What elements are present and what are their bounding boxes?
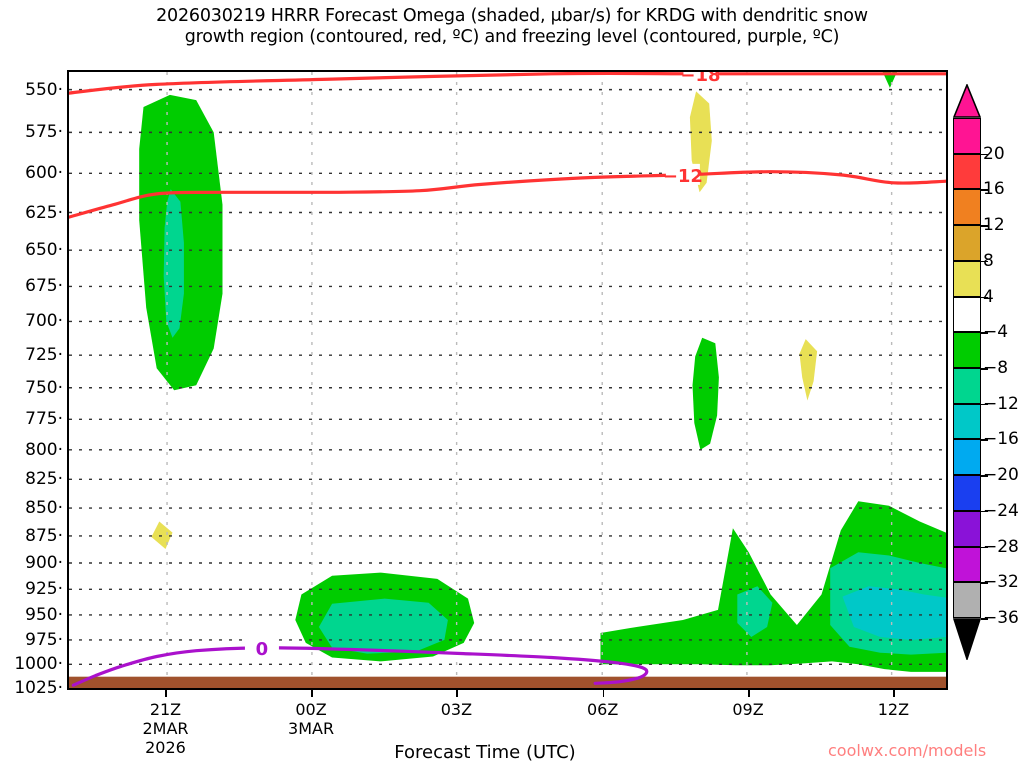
colorbar-tick-mark [981,582,988,584]
x-axis-tick-12Z: 12Z [878,700,909,719]
x-tick-year: 2026 [142,738,188,757]
shaded-region-mid-level-yellow-10z [800,339,818,400]
colorbar-tick-minus36: −36 [983,608,1019,628]
y-axis-tick-725: 725· [25,345,63,365]
contour-label-dendritic-upper: −18 [680,72,720,86]
x-axis-tick-21Z: 21Z2MAR2026 [142,700,188,757]
y-axis-tick-850: 850· [25,498,63,518]
terrain-band [69,677,946,688]
y-axis-tick-575: 575· [25,122,63,142]
contour-label-dendritic-lower: −12 [663,164,703,187]
x-tick-time: 21Z [150,700,181,719]
x-tick-time: 09Z [732,700,763,719]
y-axis-tick-1025: 1025· [14,678,63,698]
colorbar-tick-mark [981,547,988,549]
y-axis-tick-775: 775· [25,409,63,429]
plot-canvas: −18−120 [69,72,946,688]
y-axis-tick-950: 950· [25,605,63,625]
colorbar-segment-1 [953,154,981,190]
x-tick-time: 12Z [878,700,909,719]
x-tick-time: 03Z [441,700,472,719]
colorbar-tick-mark [981,297,988,299]
x-tick-time: 06Z [587,700,618,719]
y-axis-tick-800: 800· [25,440,63,460]
x-axis-tick-mark [893,690,895,697]
x-tick-date: 3MAR [288,719,334,738]
contour-label-text: 0 [256,639,269,660]
colorbar-tick-minus24: −24 [983,501,1019,521]
colorbar-segment-11 [953,511,981,547]
colorbar-segment-9 [953,439,981,475]
page-title: 2026030219 HRRR Forecast Omega (shaded, … [0,6,1024,48]
colorbar-segment-7 [953,368,981,404]
y-axis-tick-625: 625· [25,203,63,223]
x-axis-tick-mark [165,690,167,697]
y-axis-tick-825: 825· [25,469,63,489]
x-axis-tick-mark [748,690,750,697]
x-axis-title: Forecast Time (UTC) [250,742,720,763]
colorbar-segment-2 [953,189,981,225]
y-axis-tick-700: 700· [25,311,63,331]
title-line-1: 2026030219 HRRR Forecast Omega (shaded, … [0,6,1024,27]
colorbar-tick-mark [981,439,988,441]
y-axis-tick-600: 600· [25,163,63,183]
colorbar-tick-minus32: −32 [983,572,1019,592]
x-axis-tick-mark [603,690,605,697]
colorbar-tick-mark [981,154,988,156]
x-axis-tick-00Z: 00Z3MAR [288,700,334,738]
colorbar-segment-13 [953,582,981,618]
colorbar-segment-4 [953,261,981,297]
title-line-2: growth region (contoured, red, ºC) and f… [0,27,1024,48]
colorbar-under-arrow [953,618,981,660]
colorbar-tick-mark [981,225,988,227]
plot-area: −18−120 [67,70,948,690]
x-axis-tick-03Z: 03Z [441,700,472,719]
colorbar-segment-12 [953,547,981,583]
contour-label-text: −18 [680,72,720,86]
colorbar-segment-6 [953,332,981,368]
x-axis-tick-09Z: 09Z [732,700,763,719]
colorbar-tick-mark [981,511,988,513]
colorbar-tick-minus28: −28 [983,537,1019,557]
y-axis-tick-650: 650· [25,240,63,260]
colorbar-tick-minus16: −16 [983,429,1019,449]
colorbar-segment-0 [953,118,981,154]
y-axis-tick-750: 750· [25,378,63,398]
colorbar: 20161284−4−8−12−16−20−24−28−32−36 [953,72,1023,690]
colorbar-tick-mark [981,261,988,263]
watermark: coolwx.com/models [828,741,986,760]
x-tick-date: 2MAR [142,719,188,738]
chart-page: 2026030219 HRRR Forecast Omega (shaded, … [0,0,1024,768]
colorbar-segment-3 [953,225,981,261]
shaded-region-midnight-blob-core [319,599,448,654]
y-axis-tick-975: 975· [25,630,63,650]
y-axis-tick-550: 550· [25,80,63,100]
contour-label-freezing-level: 0 [245,637,279,660]
colorbar-tick-mark [981,475,988,477]
y-axis-tick-875: 875· [25,526,63,546]
y-axis-tick-1000: 1000· [14,654,63,674]
x-axis-tick-mark [456,690,458,697]
y-axis-tick-675: 675· [25,276,63,296]
colorbar-tick-minus20: −20 [983,465,1019,485]
colorbar-tick-mark [981,618,988,620]
y-axis-tick-925: 925· [25,579,63,599]
colorbar-segment-5 [953,297,981,333]
x-axis-tick-06Z: 06Z [587,700,618,719]
colorbar-segment-8 [953,404,981,440]
x-axis-tick-mark [311,690,313,697]
colorbar-over-arrow [953,84,981,118]
colorbar-tick-mark [981,332,988,334]
colorbar-segment-10 [953,475,981,511]
y-axis: 550·575·600·625·650·675·700·725·750·775·… [0,70,63,690]
x-tick-time: 00Z [295,700,326,719]
y-axis-tick-900: 900· [25,553,63,573]
colorbar-tick-mark [981,404,988,406]
colorbar-tick-mark [981,189,988,191]
shaded-region-mid-level-green-08z [693,338,719,450]
colorbar-tick-mark [981,368,988,370]
colorbar-tick-minus12: −12 [983,394,1019,414]
contour-label-text: −12 [663,166,703,187]
